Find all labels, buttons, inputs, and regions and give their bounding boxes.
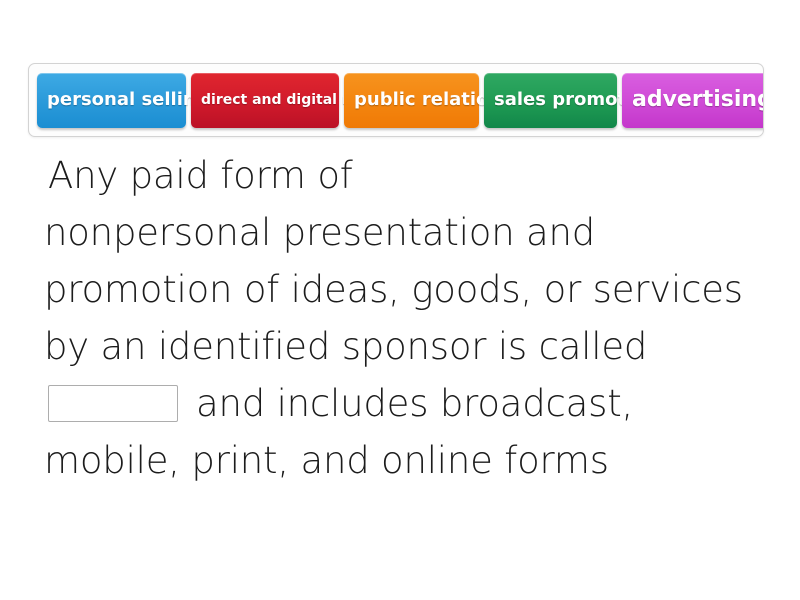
question-line-1: Any paid form of — [44, 147, 774, 204]
answer-tile-label: sales promotion — [494, 90, 607, 110]
quiz-page: personal selling direct and digital mark… — [0, 0, 800, 600]
answer-tile-label: direct and digital marketing — [201, 93, 329, 109]
question-line-3: promotion of ideas, goods, or services — [44, 261, 774, 318]
answer-tile-advertising[interactable]: advertising — [622, 73, 764, 128]
answer-tile-label: advertising — [632, 88, 760, 113]
answer-tile-label: public relations — [354, 90, 469, 110]
question-text: Any paid form of nonpersonal presentatio… — [44, 147, 774, 489]
answer-drop-blank[interactable] — [48, 385, 178, 422]
question-line-4: by an identified sponsor is called — [44, 318, 774, 375]
answer-tile-list: personal selling direct and digital mark… — [37, 73, 764, 128]
answer-tile-tray: personal selling direct and digital mark… — [28, 63, 764, 137]
answer-tile-personal-selling[interactable]: personal selling — [37, 73, 186, 128]
question-line-5-text: and includes broadcast, — [196, 375, 633, 432]
question-line-6: mobile, print, and online forms — [44, 432, 774, 489]
answer-tile-public-relations[interactable]: public relations — [344, 73, 479, 128]
answer-tile-sales-promotion[interactable]: sales promotion — [484, 73, 617, 128]
answer-tile-direct-and-digital-marketing[interactable]: direct and digital marketing — [191, 73, 339, 128]
question-line-5: and includes broadcast, — [44, 375, 774, 432]
answer-tile-label: personal selling — [47, 90, 176, 110]
question-line-2: nonpersonal presentation and — [44, 204, 774, 261]
